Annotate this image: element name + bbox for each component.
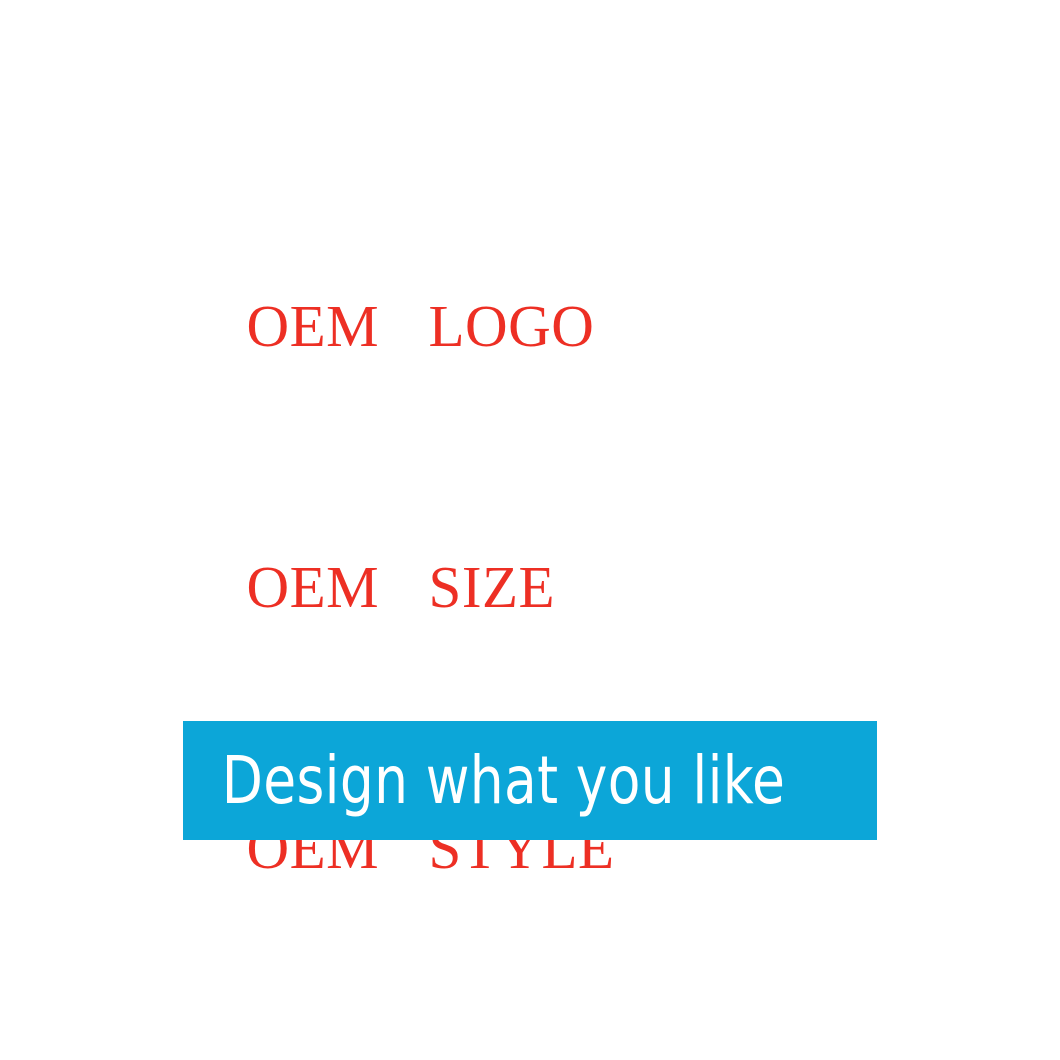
design-cta-banner[interactable]: Design what you like <box>183 721 877 840</box>
design-cta-label: Design what you like <box>183 748 785 814</box>
oem-prefix-label: OEM <box>247 544 429 631</box>
oem-list-item: OEMLOGO <box>155 196 1015 457</box>
oem-specification-list: OEMLOGO OEMSIZE OEMSTYLE OEMMATERIAL OEM… <box>155 196 1015 1060</box>
oem-prefix-label: OEM <box>247 283 429 370</box>
oem-list-item: OEMMATERIAL <box>155 979 1015 1060</box>
oem-list-item: OEMSIZE <box>155 457 1015 718</box>
promo-canvas: OEMLOGO OEMSIZE OEMSTYLE OEMMATERIAL OEM… <box>0 0 1060 1060</box>
oem-value-label: SIZE <box>429 554 556 620</box>
oem-value-label: LOGO <box>429 293 595 359</box>
